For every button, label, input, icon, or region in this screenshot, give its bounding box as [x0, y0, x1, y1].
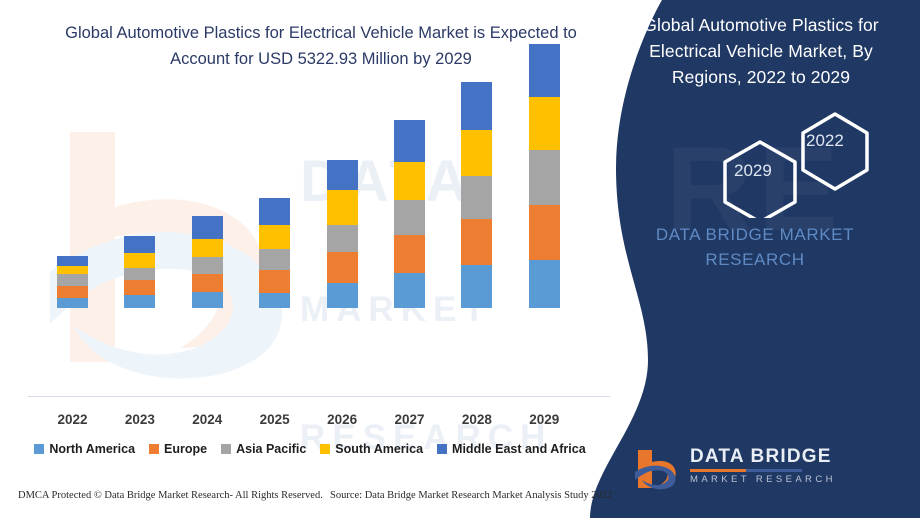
footer-source: Source: Data Bridge Market Research Mark… — [330, 490, 612, 501]
x-tick-label-2026: 2026 — [307, 412, 377, 427]
chart-legend: North AmericaEuropeAsia PacificSouth Ame… — [0, 442, 620, 456]
legend-item-asia-pacific[interactable]: Asia Pacific — [221, 442, 306, 456]
bar-segment — [327, 283, 358, 308]
legend-label: South America — [335, 442, 423, 456]
bar-segment — [57, 286, 88, 298]
bar-segment — [259, 293, 290, 308]
databridge-b-mark-icon — [632, 442, 684, 492]
data-bridge-logo: DATA BRIDGE MARKET RESEARCH — [632, 440, 882, 496]
bar-segment — [529, 260, 560, 308]
bar-segment — [461, 130, 492, 176]
bar-segment — [124, 280, 155, 295]
hexagon-label-2029: 2029 — [734, 161, 772, 181]
bar-segment — [394, 120, 425, 162]
bar-segment — [394, 162, 425, 200]
x-tick-label-2028: 2028 — [442, 412, 512, 427]
bar-2026 — [327, 160, 358, 308]
bar-segment — [327, 225, 358, 252]
legend-label: Asia Pacific — [236, 442, 306, 456]
bar-segment — [192, 216, 223, 239]
legend-label: North America — [49, 442, 135, 456]
bar-segment — [57, 266, 88, 274]
bar-segment — [394, 273, 425, 308]
x-tick-label-2025: 2025 — [240, 412, 310, 427]
bar-segment — [327, 160, 358, 190]
panel-brand-text: DATA BRIDGE MARKET RESEARCH — [590, 222, 920, 272]
bar-segment — [192, 257, 223, 274]
bar-segment — [57, 298, 88, 308]
infographic-root: RE Global Automotive Plastics for Electr… — [0, 0, 920, 518]
bar-segment — [529, 97, 560, 150]
legend-label: Europe — [164, 442, 207, 456]
logo-wordmark: DATA BRIDGE MARKET RESEARCH — [690, 446, 836, 486]
bar-segment — [461, 82, 492, 130]
bar-segment — [394, 200, 425, 235]
legend-item-south-america[interactable]: South America — [320, 442, 423, 456]
legend-item-north-america[interactable]: North America — [34, 442, 135, 456]
x-tick-label-2027: 2027 — [375, 412, 445, 427]
x-tick-label-2022: 2022 — [38, 412, 108, 427]
legend-item-europe[interactable]: Europe — [149, 442, 207, 456]
legend-swatch-icon — [320, 444, 330, 454]
bar-2027 — [394, 120, 425, 308]
bar-2028 — [461, 82, 492, 308]
panel-brand-line1: DATA BRIDGE MARKET — [590, 222, 920, 247]
x-axis-line — [28, 396, 610, 397]
bar-segment — [529, 150, 560, 205]
footer: DMCA Protected © Data Bridge Market Rese… — [0, 490, 620, 514]
bar-segment — [124, 253, 155, 268]
bar-2022 — [57, 256, 88, 308]
legend-swatch-icon — [34, 444, 44, 454]
hexagon-label-2022: 2022 — [806, 131, 844, 151]
bar-chart-plot: 20222023202420252026202720282029 — [0, 0, 640, 430]
bar-segment — [192, 239, 223, 257]
bar-segment — [124, 268, 155, 280]
bar-segment — [57, 256, 88, 266]
bar-segment — [461, 176, 492, 219]
x-tick-label-2024: 2024 — [172, 412, 242, 427]
legend-swatch-icon — [149, 444, 159, 454]
bar-2025 — [259, 198, 290, 308]
panel-title: Global Automotive Plastics for Electrica… — [616, 12, 906, 90]
x-tick-label-2029: 2029 — [509, 412, 579, 427]
hexagon-pair-icon — [685, 108, 895, 218]
bar-segment — [461, 265, 492, 308]
bar-2024 — [192, 216, 223, 308]
bar-segment — [192, 292, 223, 308]
bar-segment — [259, 225, 290, 249]
bar-segment — [327, 252, 358, 283]
right-navy-panel: RE Global Automotive Plastics for Electr… — [590, 0, 920, 518]
logo-line1: DATA BRIDGE — [690, 446, 836, 468]
legend-label: Middle East and Africa — [452, 442, 586, 456]
bar-segment — [461, 219, 492, 265]
logo-line2: MARKET RESEARCH — [690, 474, 836, 486]
bar-segment — [124, 236, 155, 253]
legend-swatch-icon — [221, 444, 231, 454]
bar-segment — [394, 235, 425, 273]
footer-copyright: DMCA Protected © Data Bridge Market Rese… — [18, 490, 323, 501]
bar-segment — [259, 198, 290, 225]
bar-segment — [57, 274, 88, 286]
chart-area: Global Automotive Plastics for Electrica… — [0, 0, 640, 518]
bar-segment — [124, 295, 155, 308]
logo-divider — [690, 469, 802, 472]
bar-segment — [529, 205, 560, 260]
legend-item-middle-east-and-africa[interactable]: Middle East and Africa — [437, 442, 586, 456]
bar-2029 — [529, 44, 560, 308]
bar-segment — [529, 44, 560, 97]
hexagon-group: 2022 2029 — [685, 108, 895, 218]
legend-swatch-icon — [437, 444, 447, 454]
bar-segment — [259, 270, 290, 293]
bar-segment — [327, 190, 358, 225]
bar-segment — [192, 274, 223, 292]
bar-2023 — [124, 236, 155, 308]
bar-segment — [259, 249, 290, 270]
x-tick-label-2023: 2023 — [105, 412, 175, 427]
panel-brand-line2: RESEARCH — [590, 247, 920, 272]
